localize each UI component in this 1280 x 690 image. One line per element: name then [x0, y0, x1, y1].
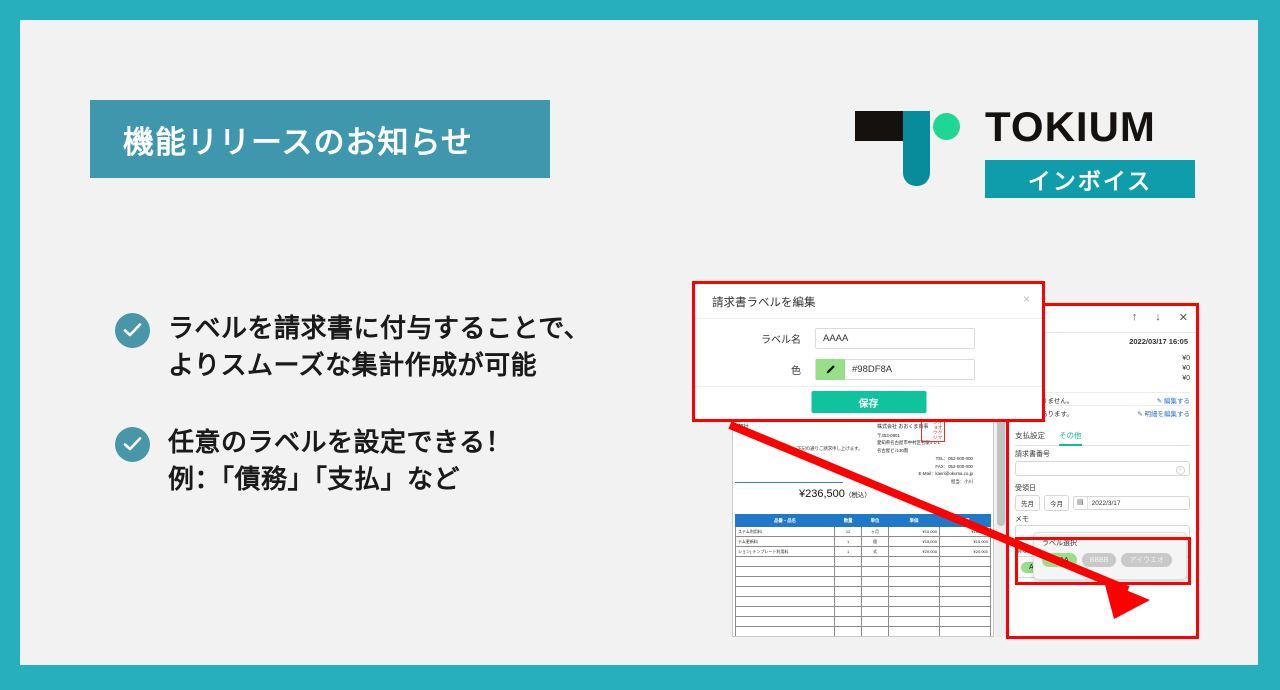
invoice-lead-text: 下記の通りご請求申し上げます。 [797, 446, 862, 452]
table-cell [835, 557, 862, 567]
table-cell [862, 557, 889, 567]
table-cell [939, 577, 990, 587]
table-row [736, 557, 991, 567]
table-cell [835, 617, 862, 627]
list-item: 任意のラベルを設定できる！ 例：「債務」「支払」など [115, 424, 675, 498]
edit-invoice-label-dialog: 請求書ラベルを編集 × ラベル名 AAAA 色 #98DF8A 保存 [692, 281, 1045, 422]
table-cell [862, 567, 889, 577]
table-cell [835, 627, 862, 637]
invoice-total-value: ¥236,500 [799, 488, 845, 500]
table-cell [888, 597, 939, 607]
save-button[interactable]: 保存 [811, 391, 926, 413]
logo-wordmark: TOKIUM [985, 106, 1156, 148]
page-title-band: 機能リリースのお知らせ [90, 100, 550, 178]
table-cell [835, 607, 862, 617]
column-header: 数量 [835, 515, 862, 527]
table-cell [736, 567, 835, 577]
table-cell [862, 627, 889, 637]
table-cell [888, 617, 939, 627]
table-cell [736, 557, 835, 567]
slide-canvas: 機能リリースのお知らせ TOKIUM インボイス ラベルを請求書に付与することで… [20, 20, 1258, 665]
table-row [736, 617, 991, 627]
column-header: 単位 [862, 515, 889, 527]
check-circle-icon [115, 427, 150, 462]
invoice-email: E-Mail：kaeri@okuma.co.jp [877, 470, 973, 478]
check-circle-icon [115, 313, 150, 348]
table-cell [736, 597, 835, 607]
table-cell: ステム利用料 [736, 527, 835, 537]
table-cell [939, 557, 990, 567]
table-cell: 1 [835, 537, 862, 547]
table-cell [862, 597, 889, 607]
list-item: ラベルを請求書に付与することで、 よりスムーズな集計作成が可能 [115, 310, 675, 384]
tokium-t-mark-icon [855, 111, 970, 186]
table-cell [888, 557, 939, 567]
table-row [736, 577, 991, 587]
table-row: テム更新料1個¥15,000¥15,000 [736, 537, 991, 547]
table-row [736, 607, 991, 617]
table-cell [736, 617, 835, 627]
logo-product-badge-label: インボイス [1028, 162, 1152, 196]
table-header-row: 品番・品名 数量 単位 単価 金額 [736, 515, 991, 527]
table-cell: ¥20,000 [888, 547, 939, 557]
label-name-value: AAAA [816, 333, 848, 344]
table-cell [736, 577, 835, 587]
table-cell [862, 587, 889, 597]
invoice-total-amount: ¥236,500（税込） [799, 488, 871, 500]
table-cell [888, 587, 939, 597]
table-cell: 12 [835, 527, 862, 537]
table-cell [862, 577, 889, 587]
dialog-title: 請求書ラベルを編集 [712, 294, 816, 310]
table-cell: ¥20,000 [939, 547, 990, 557]
table-row [736, 597, 991, 607]
table-cell [862, 607, 889, 617]
tokium-logo: TOKIUM インボイス [855, 98, 1195, 203]
table-cell [939, 627, 990, 637]
table-cell: ¥180,000 [939, 527, 990, 537]
column-header: 単価 [888, 515, 939, 527]
table-cell [939, 617, 990, 627]
table-cell [939, 567, 990, 577]
table-row [736, 587, 991, 597]
label-color-input[interactable]: #98DF8A [815, 359, 975, 380]
table-cell [736, 607, 835, 617]
invoice-line-item-table: 品番・品名 数量 単位 単価 金額 ステム利用料12ヶ月¥15,000¥180,… [735, 514, 991, 637]
table-cell: 1 [835, 547, 862, 557]
label-color-row: 色 #98DF8A [695, 359, 1042, 380]
label-name-row: ラベル名 AAAA [695, 328, 1042, 349]
table-cell: ¥15,000 [888, 537, 939, 547]
table-row: ステム利用料12ヶ月¥15,000¥180,000 [736, 527, 991, 537]
column-header: 品番・品名 [736, 515, 835, 527]
table-cell [939, 587, 990, 597]
table-cell [736, 627, 835, 637]
table-cell [888, 577, 939, 587]
label-color-label: 色 [695, 362, 815, 377]
invoice-person: 担当：小川 [877, 478, 973, 486]
label-field-highlight [1015, 537, 1191, 585]
table-cell [835, 587, 862, 597]
logo-product-badge: インボイス [985, 160, 1195, 198]
dialog-footer: 保存 [695, 386, 1042, 419]
invoice-total-note: （税込） [845, 492, 871, 499]
label-color-value: #98DF8A [845, 364, 892, 375]
invoice-fax: FAX：052-000-000 [877, 463, 973, 471]
table-cell [736, 587, 835, 597]
table-cell [939, 597, 990, 607]
table-cell [888, 567, 939, 577]
table-cell [888, 627, 939, 637]
table-cell: ¥15,000 [939, 537, 990, 547]
table-row: ション) テンプレート利用料1式¥20,000¥20,000 [736, 547, 991, 557]
table-row [736, 567, 991, 577]
page-title: 機能リリースのお知らせ [123, 117, 473, 162]
table-cell [835, 597, 862, 607]
feature-bullet-list: ラベルを請求書に付与することで、 よりスムーズな集計作成が可能 任意のラベルを設… [115, 310, 675, 538]
table-cell: 式 [862, 547, 889, 557]
color-picker-pencil-icon[interactable] [816, 359, 845, 380]
table-row [736, 627, 991, 637]
table-cell [888, 607, 939, 617]
close-icon[interactable]: × [1023, 292, 1030, 306]
dialog-header: 請求書ラベルを編集 × [695, 284, 1042, 319]
column-header: 金額 [939, 515, 990, 527]
invoice-tel: TEL：052-000-000 [877, 455, 973, 463]
bullet-text: 任意のラベルを設定できる！ 例：「債務」「支払」など [168, 424, 512, 498]
label-name-label: ラベル名 [695, 331, 815, 346]
invoice-address-2: 名古屋ビル30階 [877, 447, 973, 455]
table-cell [939, 607, 990, 617]
label-name-input[interactable]: AAAA [815, 328, 975, 349]
table-cell: ¥15,000 [888, 527, 939, 537]
table-cell: 個 [862, 537, 889, 547]
invoice-recipient: 御社 [737, 422, 749, 431]
table-cell [835, 567, 862, 577]
table-cell: テム更新料 [736, 537, 835, 547]
table-cell: ション) テンプレート利用料 [736, 547, 835, 557]
table-cell [835, 577, 862, 587]
table-cell: ヶ月 [862, 527, 889, 537]
bullet-text: ラベルを請求書に付与することで、 よりスムーズな集計作成が可能 [168, 310, 590, 384]
table-cell [862, 617, 889, 627]
